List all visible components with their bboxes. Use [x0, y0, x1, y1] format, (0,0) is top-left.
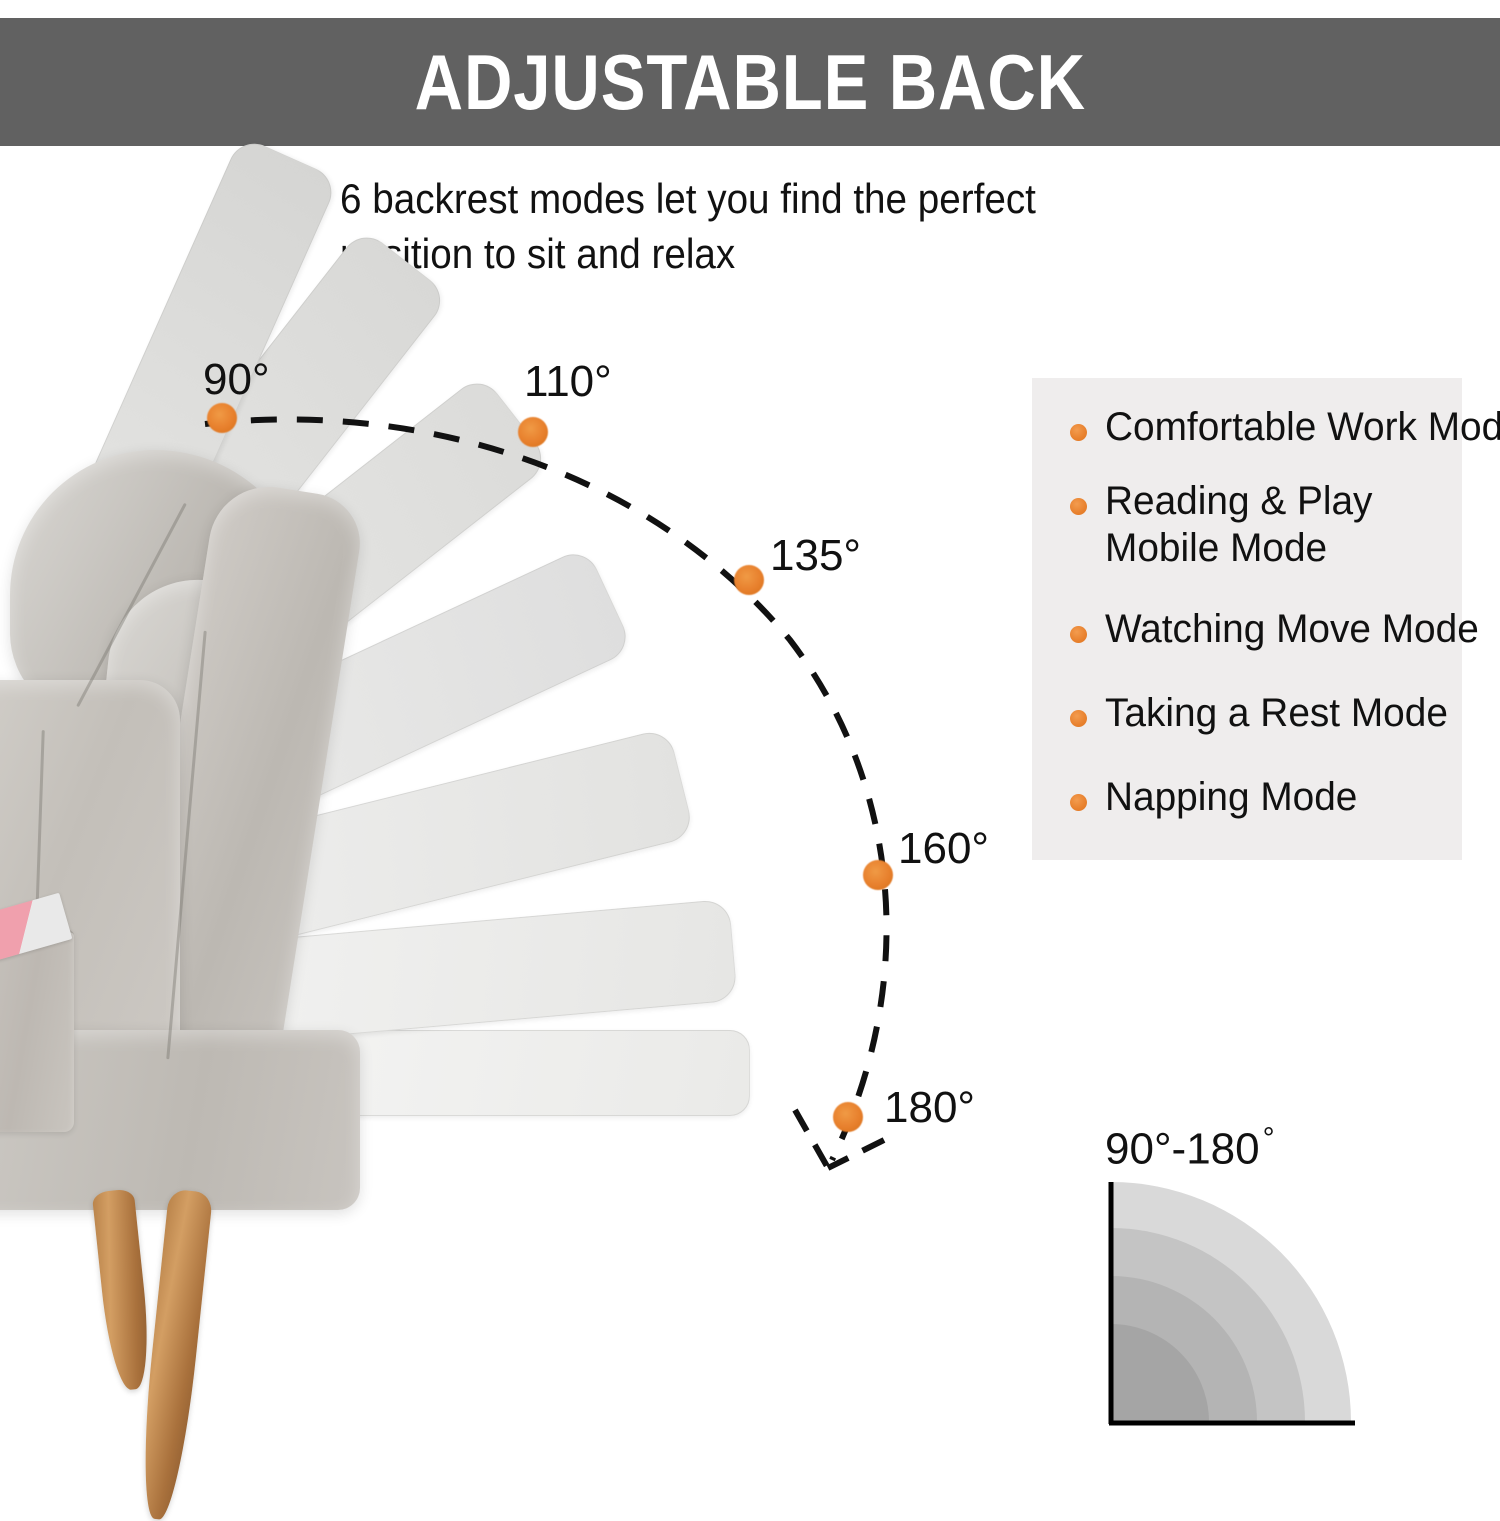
angle-range-end: 180 — [1186, 1125, 1259, 1174]
marker-dot-135 — [734, 565, 764, 595]
product-photo — [0, 430, 740, 1500]
feature-item-4: Taking a Rest Mode — [1070, 690, 1490, 737]
front-leg — [92, 1188, 155, 1391]
marker-dot-110 — [518, 417, 548, 447]
infographic-canvas: ADJUSTABLE BACK 6 backrest modes let you… — [0, 0, 1500, 1500]
marker-dot-160 — [863, 860, 893, 890]
degree-symbol: ° — [1263, 1122, 1275, 1155]
feature-label: Watching Move Mode — [1105, 606, 1479, 653]
feature-label: Comfortable Work Mode — [1105, 404, 1500, 451]
feature-label: Taking a Rest Mode — [1105, 690, 1448, 737]
feature-item-2: Reading & Play Mobile Mode — [1070, 478, 1470, 572]
angle-range-separator: - — [1172, 1125, 1187, 1174]
feature-label: Napping Mode — [1105, 774, 1357, 821]
angle-range-start: 90° — [1105, 1125, 1172, 1174]
angle-range-diagram: 90°-180° — [1100, 1124, 1390, 1434]
subtitle-text: 6 backrest modes let you find the perfec… — [340, 172, 1113, 281]
bullet-icon — [1070, 794, 1087, 811]
angle-label-180: 180° — [884, 1086, 975, 1130]
header-banner: ADJUSTABLE BACK — [0, 18, 1500, 146]
feature-item-1: Comfortable Work Mode — [1070, 404, 1500, 451]
bullet-icon — [1070, 710, 1087, 727]
angle-label-90: 90° — [203, 358, 270, 402]
feature-item-5: Napping Mode — [1070, 774, 1450, 821]
angle-range-label: 90°-180° — [1105, 1124, 1275, 1172]
marker-dot-180 — [833, 1102, 863, 1132]
arrowhead-barb-left — [795, 1110, 828, 1168]
rear-leg — [135, 1189, 213, 1521]
quarter-circle-svg — [1105, 1182, 1373, 1428]
feature-item-3: Watching Move Mode — [1070, 606, 1500, 653]
side-storage-pocket — [0, 930, 74, 1132]
angle-label-110: 110° — [524, 360, 612, 404]
bullet-icon — [1070, 424, 1087, 441]
marker-dot-90 — [207, 403, 237, 433]
arrowhead-barb-right — [828, 1140, 884, 1168]
mode-list-panel: Comfortable Work Mode Reading & Play Mob… — [1032, 378, 1462, 860]
angle-label-135: 135° — [770, 534, 861, 578]
angle-label-160: 160° — [898, 827, 989, 871]
feature-label: Reading & Play Mobile Mode — [1105, 478, 1372, 572]
bullet-icon — [1070, 626, 1087, 643]
bullet-icon — [1070, 498, 1087, 515]
page-title: ADJUSTABLE BACK — [414, 43, 1085, 121]
quarter-circle-graphic — [1105, 1182, 1373, 1428]
